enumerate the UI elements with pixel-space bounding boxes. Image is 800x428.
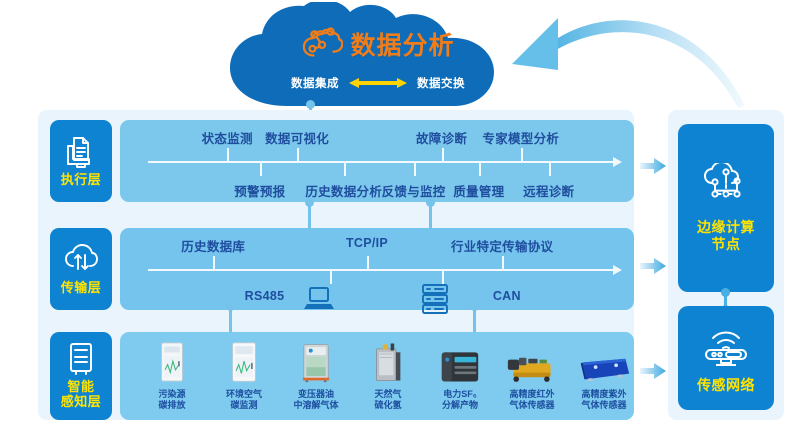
tick-up <box>213 256 215 269</box>
timeline-label-above: 数据可视化 <box>265 128 329 147</box>
device-item[interactable]: 变压器油 中溶解气体 <box>280 338 352 412</box>
connector-line-row2-row3-left <box>229 306 232 334</box>
device-label: 变压器油 中溶解气体 <box>293 389 338 412</box>
tick-down <box>344 163 346 176</box>
sf6-decomposition-analyzer-icon <box>429 338 491 384</box>
timeline-arrowhead <box>613 157 622 167</box>
device-label: 高精度红外 气体传感器 <box>509 389 554 412</box>
tick-up <box>367 256 369 269</box>
edge-cloud-network-icon <box>699 163 753 211</box>
double-arrow-icon <box>348 77 408 89</box>
sidebar-item-execution-layer[interactable]: 执行层 <box>50 120 112 202</box>
tick-down <box>479 163 481 176</box>
tick-down <box>442 271 444 284</box>
timeline-label-below: 预警预报 <box>234 181 285 200</box>
timeline-axis <box>148 161 614 163</box>
pollution-carbon-cabinet-icon <box>141 338 203 384</box>
diagram-canvas: 数据分析 数据集成 数据交换 <box>0 0 800 428</box>
cloud-data-analysis: 数据分析 数据集成 数据交换 <box>228 2 528 110</box>
wifi-router-icon <box>699 321 753 369</box>
timeline-label-below: CAN <box>493 289 521 303</box>
cloud-right-label: 数据交换 <box>417 75 465 91</box>
ultraviolet-gas-sensor-icon <box>573 338 635 384</box>
edge-computing-node-label: 边缘计算 节点 <box>697 219 755 254</box>
tick-up <box>297 148 299 161</box>
natural-gas-h2s-cabinet-icon <box>357 338 419 384</box>
timeline-label-above: TCP/IP <box>346 236 388 250</box>
device-item[interactable]: 高精度红外 气体传感器 <box>496 338 568 412</box>
perception-layer-content: 污染源 碳排放 环境空气 碳监测 <box>120 332 634 420</box>
connector-line-row2-row3-right <box>473 306 476 334</box>
flow-arrow-transport <box>640 258 666 274</box>
cloud-updown-arrows-icon <box>64 243 98 277</box>
device-item[interactable]: 高精度紫外 气体传感器 <box>568 338 640 412</box>
timeline-label-above: 行业特定传输协议 <box>451 236 553 255</box>
device-label: 污染源 碳排放 <box>158 389 185 412</box>
tick-down <box>549 163 551 176</box>
tick-up <box>227 148 229 161</box>
air-carbon-monitor-cabinet-icon <box>213 338 275 384</box>
cloud-title: 数据分析 <box>350 26 454 62</box>
tick-up <box>521 148 523 161</box>
tick-down <box>414 163 416 176</box>
timeline-label-below: 质量管理 <box>453 181 504 200</box>
timeline-label-above: 状态监测 <box>202 128 253 147</box>
connector-line-row1-row2-left <box>308 202 311 230</box>
flow-arrow-execution <box>640 158 666 174</box>
cloud-left-label: 数据集成 <box>291 75 339 91</box>
sidebar-label-transport: 传输层 <box>61 281 102 296</box>
timeline-axis <box>148 269 614 271</box>
timeline-arrowhead <box>613 265 622 275</box>
connector-line-row1-row2-right <box>429 202 432 230</box>
device-item[interactable]: 环境空气 碳监测 <box>208 338 280 412</box>
tick-down <box>330 271 332 284</box>
device-label: 电力SF₆ 分解产物 <box>442 389 478 412</box>
device-item[interactable]: 电力SF₆ 分解产物 <box>424 338 496 412</box>
execution-layer-content: 状态监测 数据可视化 故障诊断 专家模型分析 预警预报 历史数据分析 反馈与监控… <box>120 120 634 202</box>
curved-left-arrow-icon <box>500 6 800 112</box>
timeline-label-above: 历史数据库 <box>181 236 245 255</box>
sidebar-label-execution: 执行层 <box>61 173 102 188</box>
device-item[interactable]: 天然气 硫化氢 <box>352 338 424 412</box>
timeline-label-above: 专家模型分析 <box>482 128 559 147</box>
device-label: 环境空气 碳监测 <box>226 389 262 412</box>
sensor-network-card[interactable]: 传感网络 <box>678 306 774 410</box>
device-label: 高精度紫外 气体传感器 <box>581 389 626 412</box>
cloud-network-icon <box>301 24 343 64</box>
timeline-label-below: 远程诊断 <box>523 181 574 200</box>
edge-computing-node-card[interactable]: 边缘计算 节点 <box>678 124 774 292</box>
tick-up <box>442 148 444 161</box>
server-rack-icon <box>421 284 449 314</box>
sensor-network-label: 传感网络 <box>697 377 755 395</box>
laptop-icon <box>304 286 334 312</box>
timeline-label-below: 历史数据分析 <box>305 181 382 200</box>
document-monitor-icon <box>64 135 98 169</box>
flow-arrow-perception <box>640 363 666 379</box>
timeline-label-below: 反馈与监控 <box>382 181 446 200</box>
device-label: 天然气 硫化氢 <box>374 389 401 412</box>
device-item[interactable]: 污染源 碳排放 <box>136 338 208 412</box>
sidebar-label-perception: 智能 感知层 <box>61 380 102 410</box>
timeline-label-above: 故障诊断 <box>416 128 467 147</box>
execution-timeline: 状态监测 数据可视化 故障诊断 专家模型分析 预警预报 历史数据分析 反馈与监控… <box>148 161 614 162</box>
tick-up <box>502 256 504 269</box>
transformer-oil-gas-cabinet-icon <box>285 338 347 384</box>
transport-timeline: 历史数据库 TCP/IP 行业特定传输协议 RS485 CAN <box>148 269 614 270</box>
kiosk-terminal-icon <box>64 342 98 376</box>
infrared-gas-sensor-icon <box>501 338 563 384</box>
sidebar-item-perception-layer[interactable]: 智能 感知层 <box>50 332 112 420</box>
tick-down <box>260 163 262 176</box>
timeline-label-below: RS485 <box>245 289 285 303</box>
transport-layer-content: 历史数据库 TCP/IP 行业特定传输协议 RS485 CAN <box>120 228 634 310</box>
sidebar-item-transport-layer[interactable]: 传输层 <box>50 228 112 310</box>
